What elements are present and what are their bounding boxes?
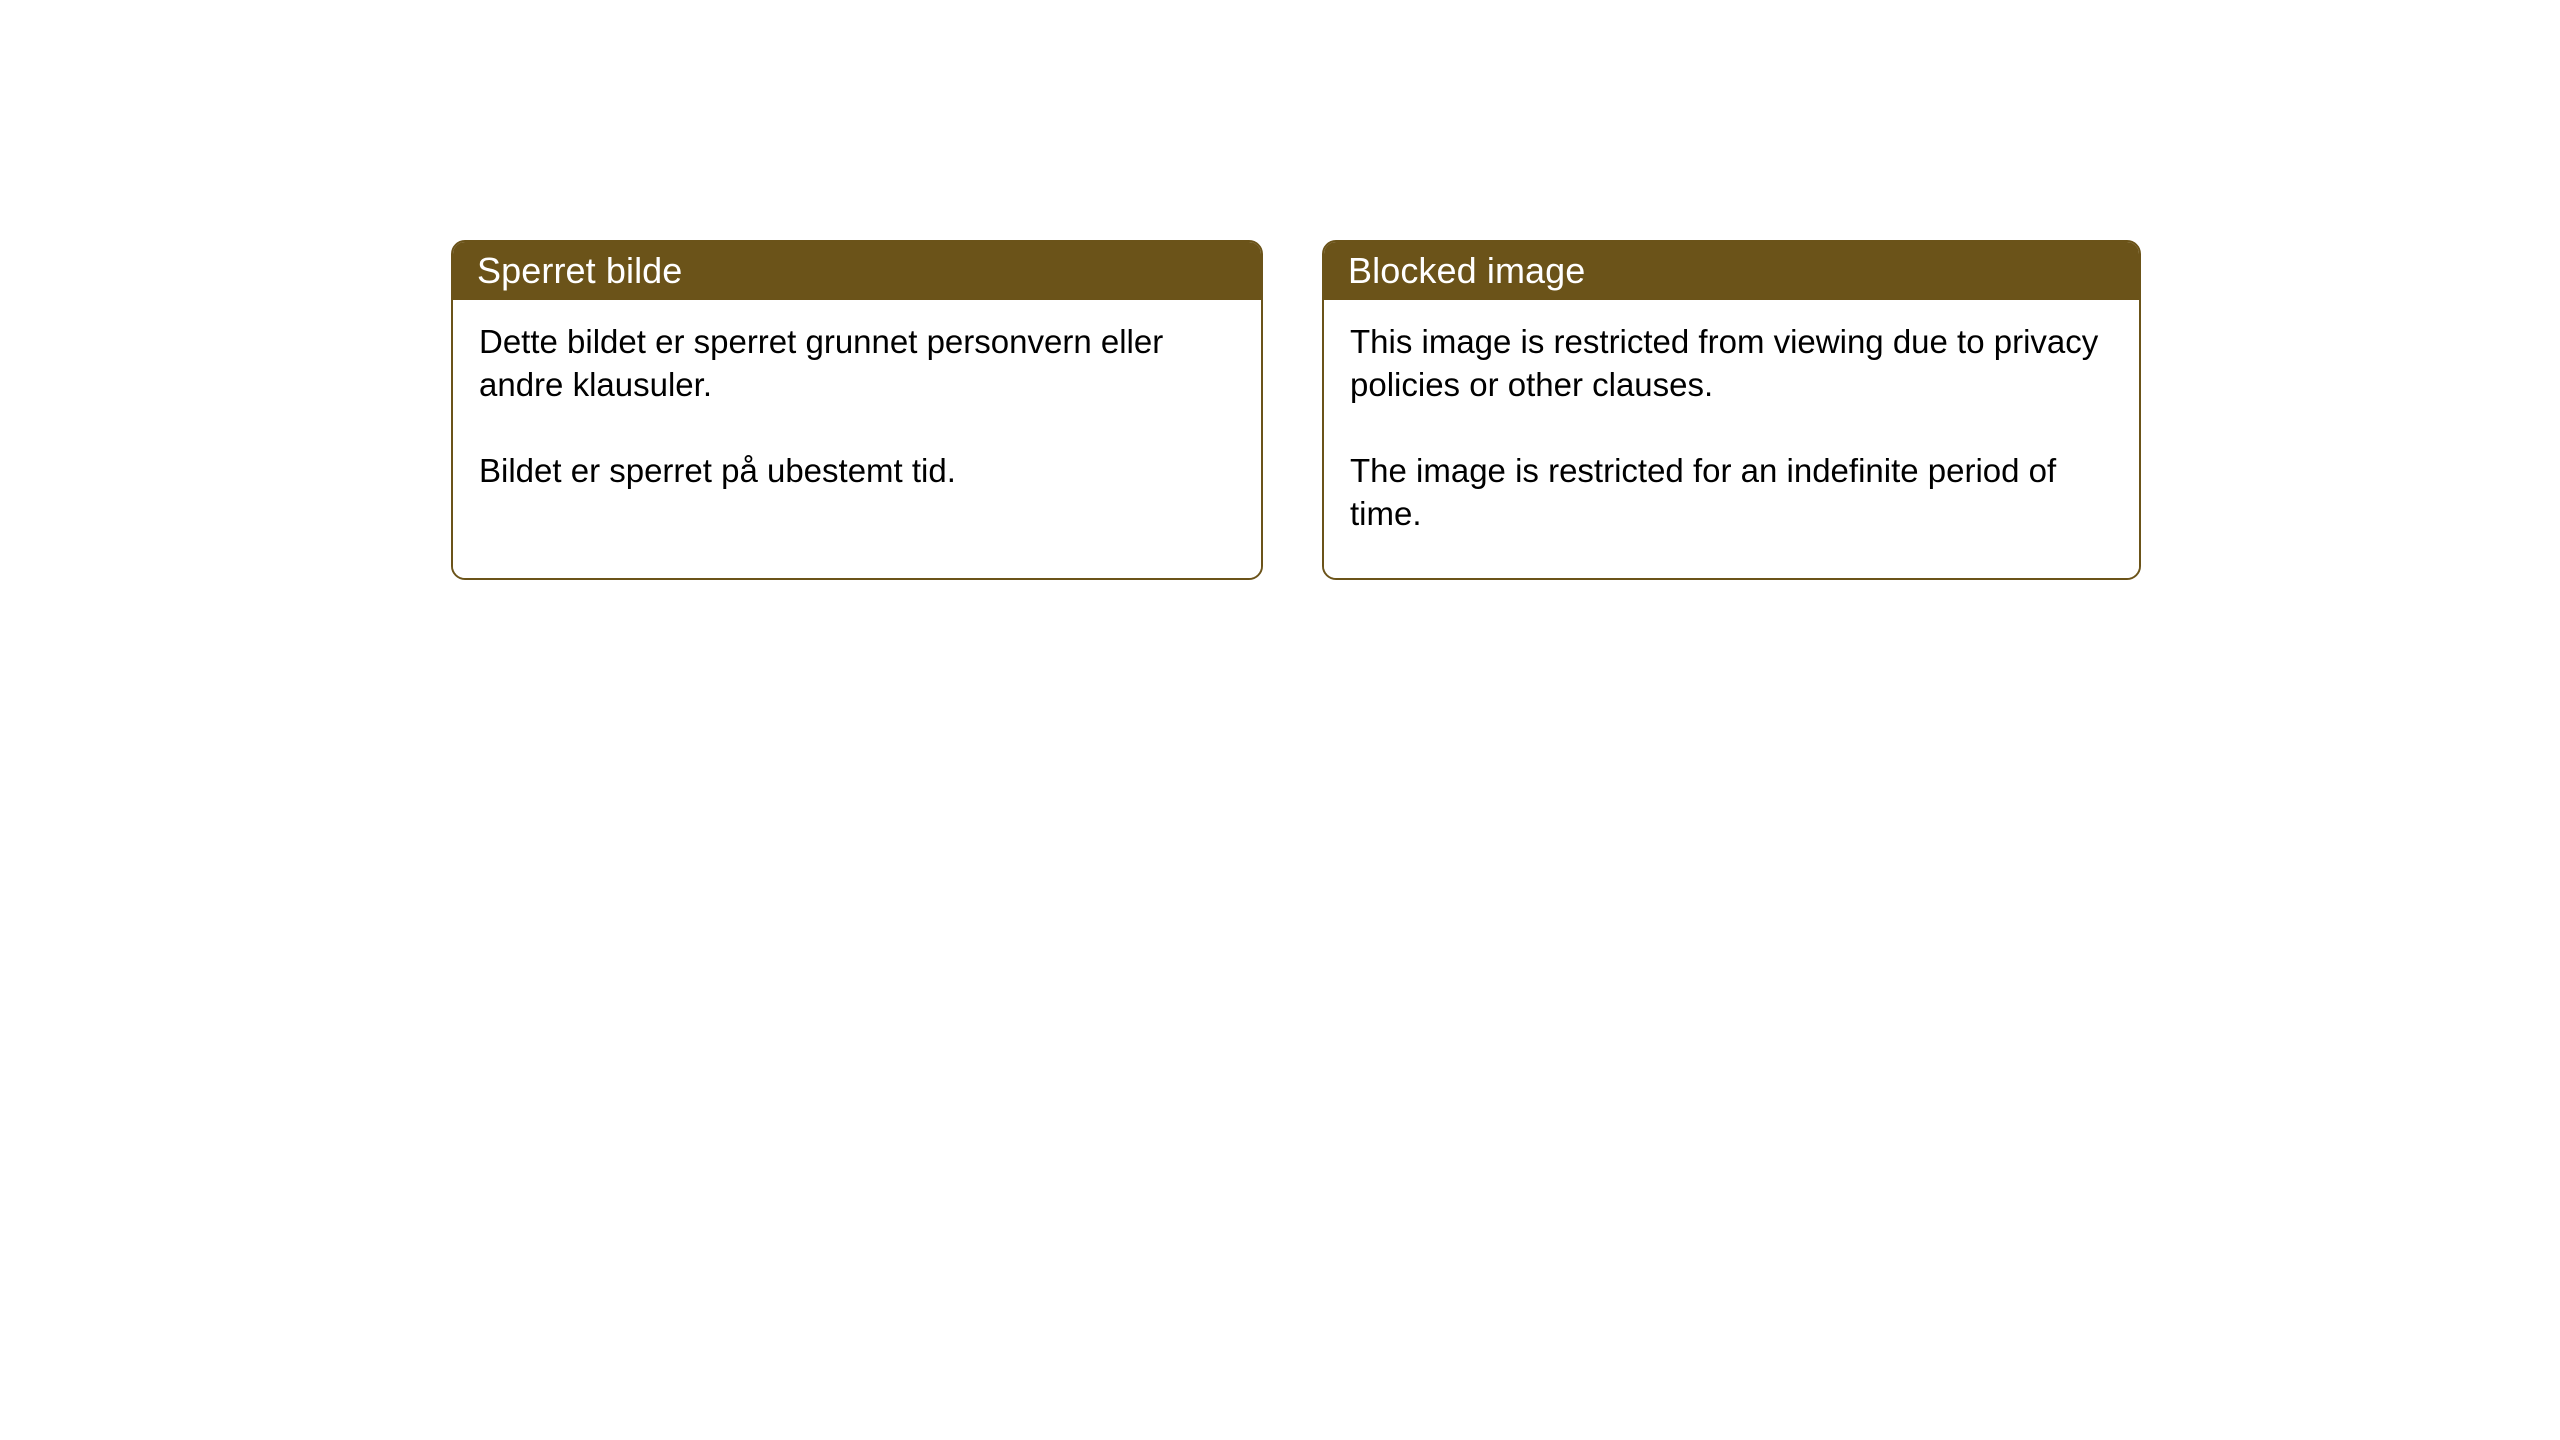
card-body-english: This image is restricted from viewing du… bbox=[1324, 300, 2139, 578]
card-paragraph-duration-english: The image is restricted for an indefinit… bbox=[1350, 449, 2117, 535]
blocked-image-notice-card-norwegian: Sperret bilde Dette bildet er sperret gr… bbox=[451, 240, 1263, 580]
page-canvas: Sperret bilde Dette bildet er sperret gr… bbox=[0, 0, 2560, 1440]
card-title-english: Blocked image bbox=[1324, 251, 1585, 291]
card-paragraph-duration-norwegian: Bildet er sperret på ubestemt tid. bbox=[479, 449, 1239, 492]
card-header-norwegian: Sperret bilde bbox=[453, 242, 1261, 300]
card-paragraph-reason-norwegian: Dette bildet er sperret grunnet personve… bbox=[479, 320, 1239, 406]
card-header-english: Blocked image bbox=[1324, 242, 2139, 300]
card-paragraph-reason-english: This image is restricted from viewing du… bbox=[1350, 320, 2117, 406]
paragraph-spacer bbox=[479, 406, 1239, 449]
paragraph-spacer bbox=[1350, 406, 2117, 449]
card-body-norwegian: Dette bildet er sperret grunnet personve… bbox=[453, 300, 1261, 578]
card-title-norwegian: Sperret bilde bbox=[453, 251, 682, 291]
blocked-image-notice-card-english: Blocked image This image is restricted f… bbox=[1322, 240, 2141, 580]
